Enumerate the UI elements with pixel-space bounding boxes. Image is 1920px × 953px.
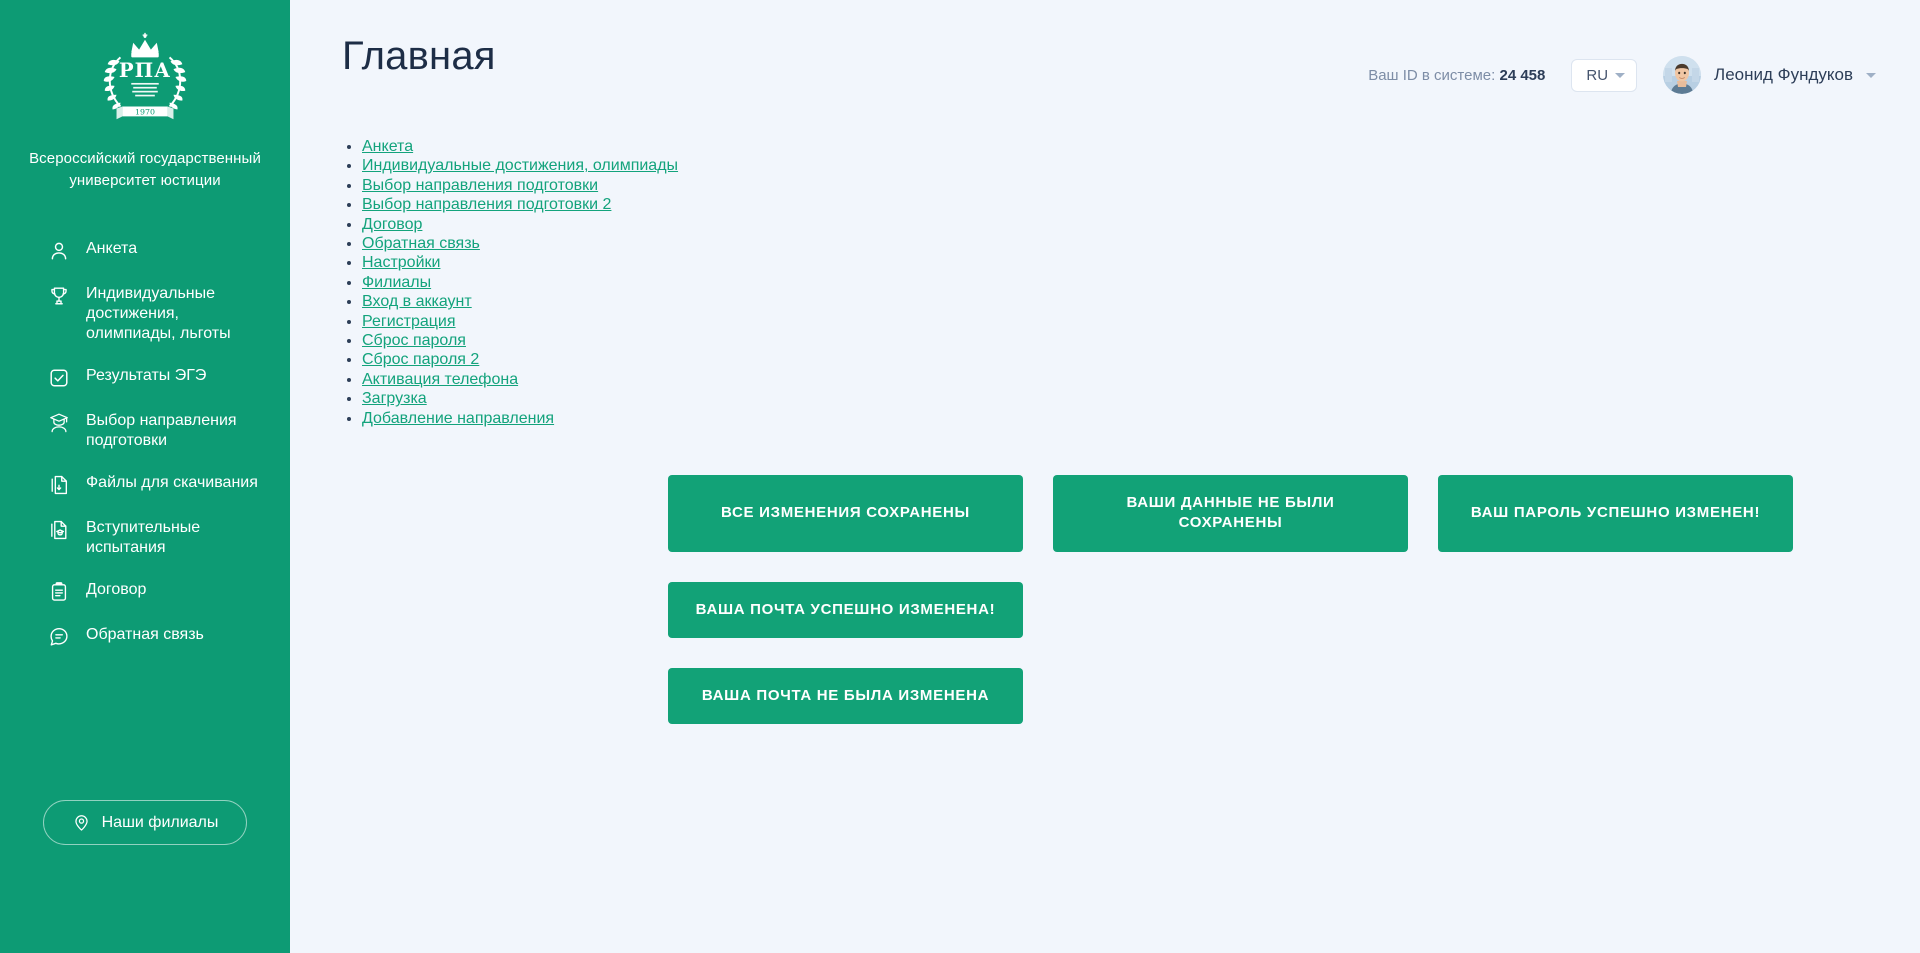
link-branches[interactable]: Филиалы — [362, 274, 431, 291]
list-item: Загрузка — [362, 390, 1920, 407]
demo-link-list: Анкета Индивидуальные достижения, олимпи… — [290, 138, 1920, 427]
list-item: Филиалы — [362, 274, 1920, 291]
svg-text:1970: 1970 — [135, 107, 155, 116]
link-phone-activation[interactable]: Активация телефона — [362, 371, 518, 388]
clipboard-icon — [48, 581, 70, 603]
alert-password-changed[interactable]: Ваш пароль успешно изменен! — [1438, 475, 1793, 552]
graduate-student-icon — [48, 412, 70, 434]
brand-block: РПА 1970 Всероссийский государственный у… — [0, 0, 290, 192]
alert-email-not-changed[interactable]: Ваша почта не была изменена — [668, 668, 1023, 724]
sidebar-item-label: Выбор направления подготовки — [86, 411, 264, 451]
file-download-icon — [48, 474, 70, 496]
svg-text:РПА: РПА — [119, 59, 171, 82]
page-title: Главная — [342, 34, 496, 78]
list-item: Сброс пароля 2 — [362, 351, 1920, 368]
sidebar-item-label: Обратная связь — [86, 625, 204, 645]
list-item: Регистрация — [362, 313, 1920, 330]
sidebar-item-label: Договор — [86, 580, 146, 600]
link-password-reset[interactable]: Сброс пароля — [362, 332, 466, 349]
alert-row-2: Ваша почта не была изменена — [668, 668, 1850, 724]
link-registration[interactable]: Регистрация — [362, 313, 456, 330]
sidebar-item-label: Вступительные испытания — [86, 518, 264, 558]
link-program-choice-2[interactable]: Выбор направления подготовки 2 — [362, 196, 611, 213]
user-id-label: Ваш ID в системе: — [1368, 67, 1495, 84]
list-item: Выбор направления подготовки — [362, 177, 1920, 194]
link-anketa[interactable]: Анкета — [362, 138, 413, 155]
sidebar-nav: Анкета Индивидуальные достижения, олимпи… — [0, 228, 290, 659]
location-pin-icon — [72, 813, 91, 832]
branches-wrap: Наши филиалы — [0, 800, 290, 845]
list-item: Анкета — [362, 138, 1920, 155]
list-item: Сброс пароля — [362, 332, 1920, 349]
alert-data-not-saved[interactable]: Ваши данные не были сохранены — [1053, 475, 1408, 552]
university-logo: РПА 1970 — [91, 26, 199, 134]
sidebar-item-entrance-exams[interactable]: Вступительные испытания — [0, 507, 290, 569]
person-icon — [48, 240, 70, 262]
link-add-program[interactable]: Добавление направления — [362, 410, 554, 427]
link-upload[interactable]: Загрузка — [362, 390, 427, 407]
file-graduate-icon — [48, 519, 70, 541]
sidebar-item-contract[interactable]: Договор — [0, 569, 290, 614]
list-item: Выбор направления подготовки 2 — [362, 196, 1920, 213]
sidebar-item-label: Результаты ЭГЭ — [86, 366, 206, 386]
language-value: RU — [1586, 67, 1608, 84]
user-id-value: 24 458 — [1499, 67, 1545, 84]
list-item: Обратная связь — [362, 235, 1920, 252]
sidebar-item-label: Анкета — [86, 239, 137, 259]
sidebar-item-feedback[interactable]: Обратная связь — [0, 614, 290, 659]
alert-email-changed[interactable]: Ваша почта успешно изменена! — [668, 582, 1023, 638]
list-item: Договор — [362, 216, 1920, 233]
sidebar-item-label: Индивидуальные достижения, олимпиады, ль… — [86, 284, 264, 344]
link-settings[interactable]: Настройки — [362, 254, 440, 271]
alert-all-changes-saved[interactable]: Все изменения сохранены — [668, 475, 1023, 552]
list-item: Добавление направления — [362, 410, 1920, 427]
list-item: Настройки — [362, 254, 1920, 271]
list-item: Активация телефона — [362, 371, 1920, 388]
user-id-display: Ваш ID в системе: 24 458 — [1368, 67, 1545, 84]
our-branches-button[interactable]: Наши филиалы — [43, 800, 248, 845]
link-program-choice[interactable]: Выбор направления подготовки — [362, 177, 598, 194]
main-content: Главная Ваш ID в системе: 24 458 RU — [290, 0, 1920, 953]
list-item: Индивидуальные достижения, олимпиады — [362, 157, 1920, 174]
sidebar-item-anketa[interactable]: Анкета — [0, 228, 290, 273]
sidebar-item-label: Файлы для скачивания — [86, 473, 258, 493]
sidebar-item-ege-results[interactable]: Результаты ЭГЭ — [0, 355, 290, 400]
checkbox-icon — [48, 367, 70, 389]
link-contract[interactable]: Договор — [362, 216, 422, 233]
user-name: Леонид Фундуков — [1714, 65, 1853, 85]
link-feedback[interactable]: Обратная связь — [362, 235, 480, 252]
chat-icon — [48, 626, 70, 648]
sidebar: РПА 1970 Всероссийский государственный у… — [0, 0, 290, 953]
list-item: Вход в аккаунт — [362, 293, 1920, 310]
link-achievements[interactable]: Индивидуальные достижения, олимпиады — [362, 157, 678, 174]
sidebar-item-program-choice[interactable]: Выбор направления подготовки — [0, 400, 290, 462]
chevron-down-icon — [1866, 73, 1876, 78]
our-branches-label: Наши филиалы — [102, 814, 219, 832]
topbar-right: Ваш ID в системе: 24 458 RU — [1368, 56, 1876, 94]
chevron-down-icon — [1615, 73, 1625, 78]
sidebar-item-achievements[interactable]: Индивидуальные достижения, олимпиады, ль… — [0, 273, 290, 355]
avatar — [1663, 56, 1701, 94]
link-login[interactable]: Вход в аккаунт — [362, 293, 472, 310]
topbar: Главная Ваш ID в системе: 24 458 RU — [290, 0, 1920, 94]
link-password-reset-2[interactable]: Сброс пароля 2 — [362, 351, 479, 368]
brand-title: Всероссийский государственный университе… — [28, 148, 262, 192]
user-menu[interactable]: Леонид Фундуков — [1663, 56, 1876, 94]
alert-buttons-area: Все изменения сохранены Ваши данные не б… — [290, 429, 1850, 724]
trophy-icon — [48, 285, 70, 307]
language-selector[interactable]: RU — [1571, 59, 1637, 92]
sidebar-item-files-download[interactable]: Файлы для скачивания — [0, 462, 290, 507]
